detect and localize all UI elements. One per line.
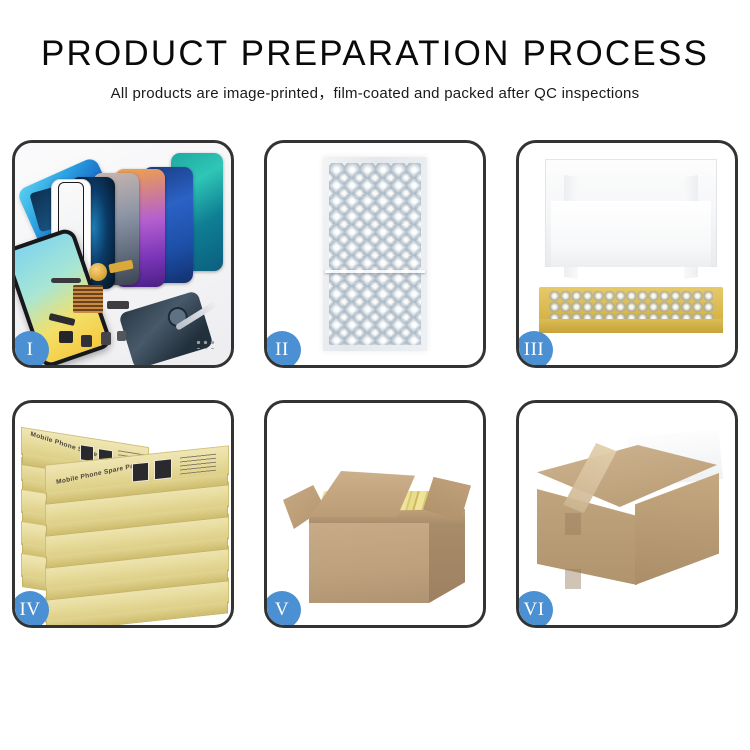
phone-back-housing bbox=[118, 290, 213, 365]
page-header: PRODUCT PREPARATION PROCESS All products… bbox=[0, 0, 750, 105]
box-spec-lines-2 bbox=[180, 453, 216, 475]
kraft-tray-box bbox=[539, 287, 723, 333]
process-step-panel-1[interactable]: I bbox=[12, 140, 234, 368]
step-badge-3: III bbox=[516, 331, 553, 368]
step-badge-1: I bbox=[12, 331, 49, 368]
earpiece-part bbox=[51, 278, 81, 283]
page-subtitle: All products are image-printed，film-coat… bbox=[0, 83, 750, 105]
box-stack: Mobile Phone Spare Parts bbox=[19, 419, 231, 619]
step-badge-2: II bbox=[264, 331, 301, 368]
process-step-grid: I II III bbox=[12, 140, 738, 628]
carton-seam-tab-1 bbox=[565, 513, 581, 535]
small-component-3 bbox=[101, 332, 111, 345]
bubble-wrapped-contents bbox=[549, 291, 713, 321]
carton-side-face bbox=[429, 523, 465, 603]
flex-cable-part-3 bbox=[107, 301, 129, 309]
process-step-panel-2[interactable]: II bbox=[264, 140, 486, 368]
open-carton-filled-image bbox=[267, 403, 483, 625]
box-label-text-2: Mobile Phone Spare Parts bbox=[56, 461, 144, 486]
process-step-panel-6[interactable]: VI bbox=[516, 400, 738, 628]
tray-front-face bbox=[539, 319, 723, 333]
process-step-panel-3[interactable]: III bbox=[516, 140, 738, 368]
carton-flap-back bbox=[303, 471, 415, 517]
bubble-wrap-seam bbox=[325, 270, 425, 273]
phone-screens-and-parts-image bbox=[15, 143, 231, 365]
carton-front-face bbox=[309, 523, 429, 603]
open-box-with-wrapped-items-image bbox=[519, 143, 735, 365]
step-badge-6: VI bbox=[516, 591, 553, 628]
small-component-2 bbox=[81, 335, 92, 347]
process-step-panel-4[interactable]: Mobile Phone Spare Parts bbox=[12, 400, 234, 628]
box-thumbnail-2a bbox=[132, 462, 149, 483]
vibration-motor-part bbox=[89, 263, 107, 281]
step-badge-4: IV bbox=[12, 591, 49, 628]
bubble-wrap-packaging-image bbox=[267, 143, 483, 365]
small-component-1 bbox=[59, 331, 73, 343]
step-badge-5: V bbox=[264, 591, 301, 628]
small-component-4 bbox=[117, 331, 126, 341]
carton-seam-tab-2 bbox=[565, 569, 581, 589]
bubble-wrap-sheet bbox=[323, 157, 427, 351]
box-thumbnail-2b bbox=[154, 458, 172, 480]
bubble-pattern-layer-2 bbox=[329, 170, 421, 345]
page-title: PRODUCT PREPARATION PROCESS bbox=[0, 34, 750, 74]
box-side-edge bbox=[46, 601, 228, 625]
stacked-retail-boxes-image: Mobile Phone Spare Parts bbox=[15, 403, 231, 625]
foam-insert bbox=[551, 201, 711, 267]
process-step-panel-5[interactable]: V bbox=[264, 400, 486, 628]
screws-group bbox=[195, 339, 217, 349]
sealed-carton-image bbox=[519, 403, 735, 625]
chip-grid-part bbox=[73, 285, 103, 313]
